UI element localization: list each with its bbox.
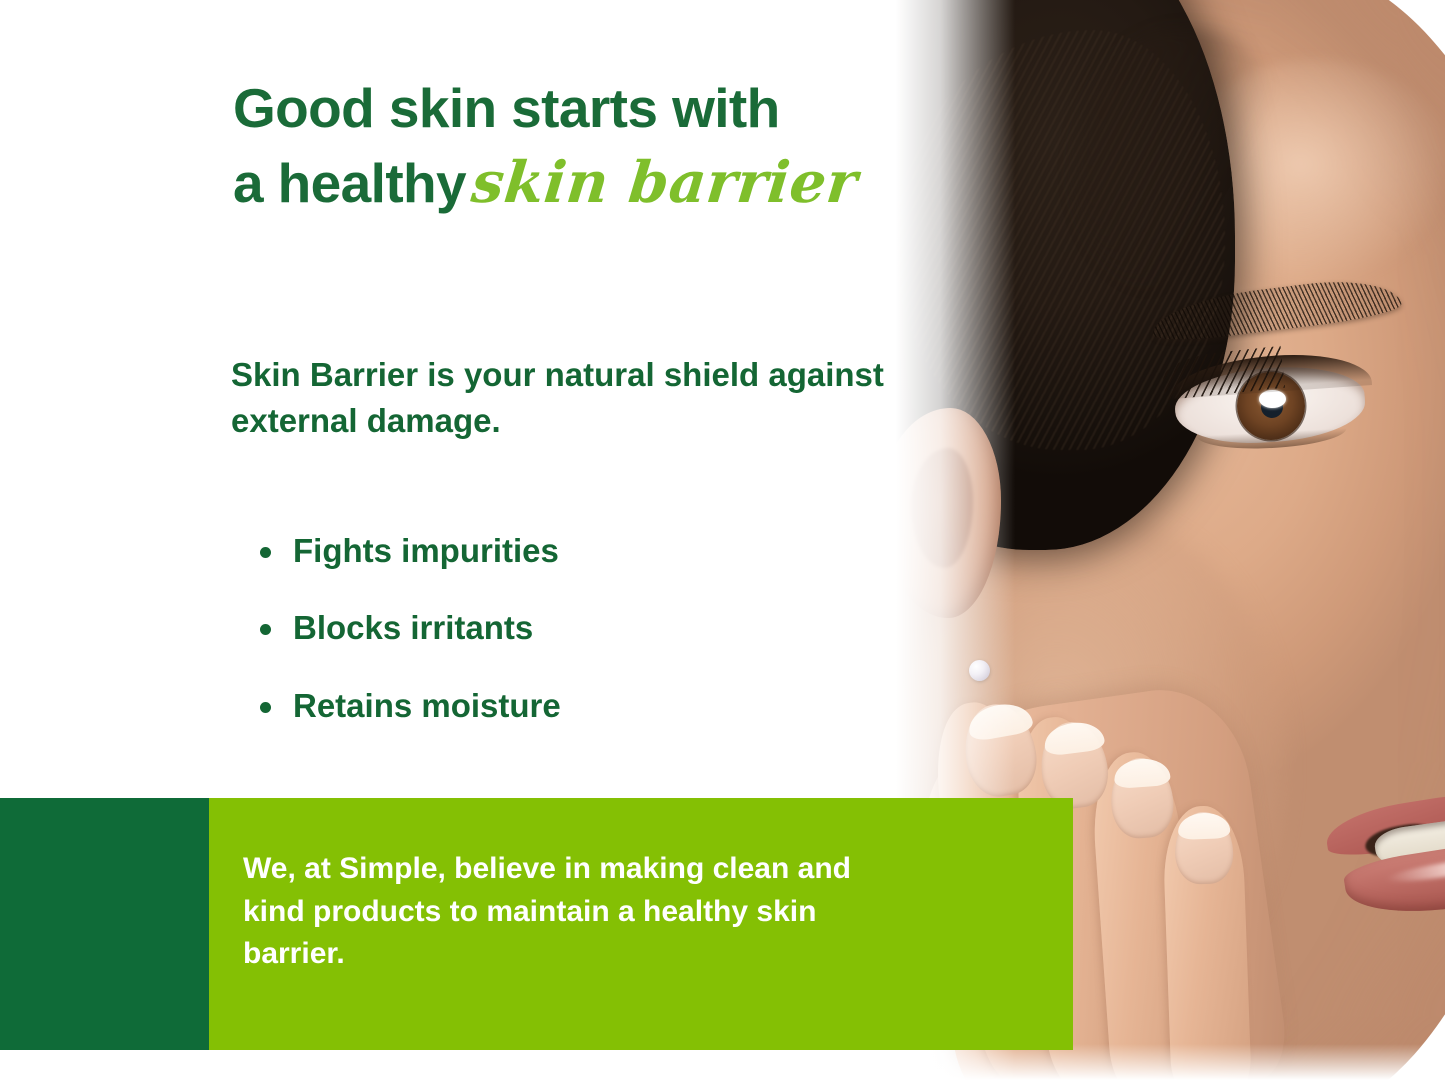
headline-line-1: Good skin starts with [233,77,780,139]
list-item: Retains moisture [258,688,878,724]
bullet-dot-icon [260,702,271,713]
benefit-label: Fights impurities [293,532,559,569]
banner-dark-block [0,798,209,1050]
list-item: Blocks irritants [258,610,878,646]
list-item: Fights impurities [258,533,878,569]
benefits-list: Fights impurities Blocks irritants Retai… [258,533,878,765]
eye-catchlight [1259,390,1286,408]
pearl-earring [969,660,990,681]
benefit-label: Blocks irritants [293,609,533,646]
brand-statement-text: We, at Simple, believe in making clean a… [243,848,903,976]
page-title: Good skin starts with a healthyskin barr… [233,72,993,220]
benefit-label: Retains moisture [293,687,561,724]
skincare-infographic-banner: Good skin starts with a healthyskin barr… [0,0,1445,1084]
bullet-dot-icon [260,624,271,635]
ear-inner [911,448,973,568]
bullet-dot-icon [260,547,271,558]
headline-script-accent: skin barrier [462,145,861,220]
headline-line-2-plain: a healthy [233,152,466,214]
subheading: Skin Barrier is your natural shield agai… [231,352,911,443]
